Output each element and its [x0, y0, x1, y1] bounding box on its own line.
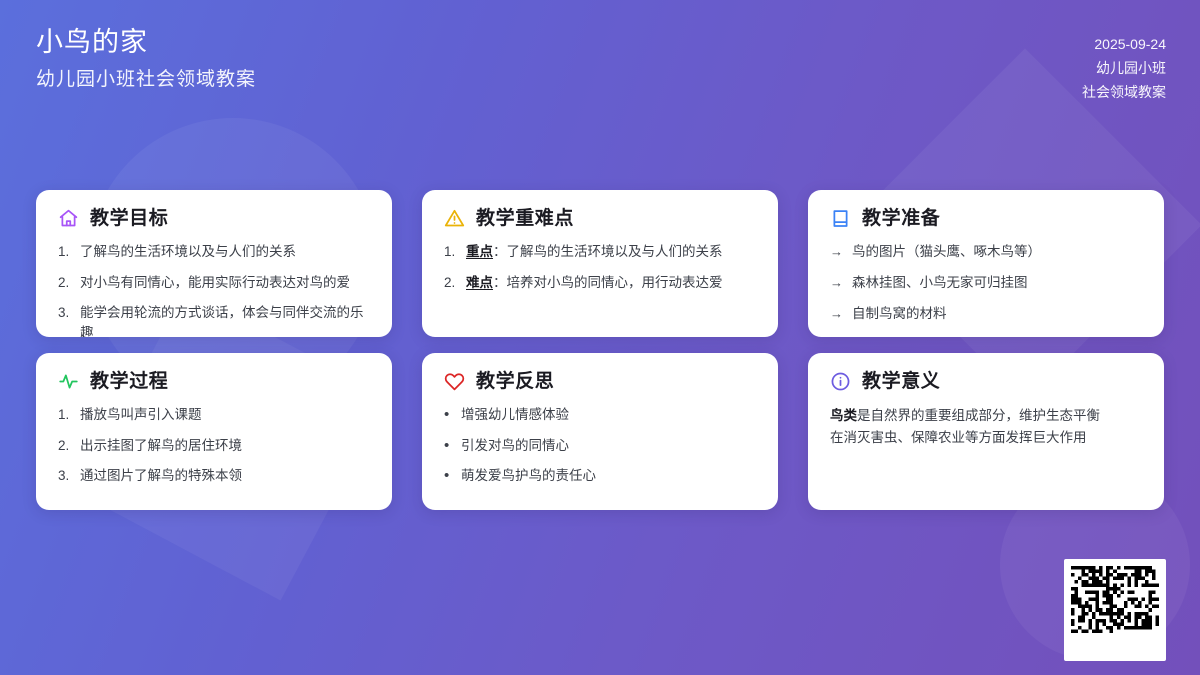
info-circle-icon — [830, 371, 851, 392]
card-reflection: 教学反思•增强幼儿情感体验•引发对鸟的同情心•萌发爱鸟护鸟的责任心 — [422, 353, 778, 510]
card-body: •增强幼儿情感体验•引发对鸟的同情心•萌发爱鸟护鸟的责任心 — [444, 405, 756, 486]
card-header: 教学目标 — [58, 208, 370, 229]
card-title: 教学意义 — [862, 372, 940, 391]
paragraph-line: 鸟类是自然界的重要组成部分，维护生态平衡 — [830, 405, 1142, 427]
meta-domain: 社会领域教案 — [1082, 80, 1166, 104]
list-marker: 3. — [58, 303, 74, 323]
header-meta: 2025-09-24 幼儿园小班 社会领域教案 — [1082, 32, 1166, 104]
card-header: 教学意义 — [830, 371, 1142, 392]
list-item-text: 通过图片了解鸟的特殊本领 — [80, 466, 370, 486]
list-item: →森林挂图、小鸟无家可归挂图 — [830, 273, 1142, 293]
list-marker: → — [830, 243, 846, 262]
book-icon — [830, 208, 851, 229]
list-item-rest: ：了解鸟的生活环境以及与人们的关系 — [493, 244, 723, 259]
list-item-text: 自制鸟窝的材料 — [852, 304, 1142, 324]
activity-pulse-icon — [58, 371, 79, 392]
paragraph-emphasis: 鸟类 — [830, 408, 857, 423]
card-title: 教学过程 — [90, 372, 168, 391]
list-item: 1.播放鸟叫声引入课题 — [58, 405, 370, 425]
list-marker: • — [444, 467, 455, 485]
list-item-text: 能学会用轮流的方式谈话，体会与同伴交流的乐趣 — [80, 303, 370, 337]
card-title: 教学目标 — [90, 209, 168, 228]
card-key-points: 教学重难点1.重点：了解鸟的生活环境以及与人们的关系2.难点：培养对小鸟的同情心… — [422, 190, 778, 337]
card-grid: 教学目标1.了解鸟的生活环境以及与人们的关系2.对小鸟有同情心，能用实际行动表达… — [36, 190, 1166, 510]
page-subtitle: 幼儿园小班社会领域教案 — [36, 67, 256, 93]
warning-triangle-icon — [444, 208, 465, 229]
card-body: →鸟的图片（猫头鹰、啄木鸟等）→森林挂图、小鸟无家可归挂图→自制鸟窝的材料 — [830, 242, 1142, 324]
list-item: •萌发爱鸟护鸟的责任心 — [444, 466, 756, 486]
card-process: 教学过程1.播放鸟叫声引入课题2.出示挂图了解鸟的居住环境3.通过图片了解鸟的特… — [36, 353, 392, 510]
list-item: 2.难点：培养对小鸟的同情心，用行动表达爱 — [444, 273, 756, 293]
meta-date: 2025-09-24 — [1082, 32, 1166, 56]
list-item-text: 重点：了解鸟的生活环境以及与人们的关系 — [466, 242, 756, 262]
list-item: •增强幼儿情感体验 — [444, 405, 756, 425]
list-item: •引发对鸟的同情心 — [444, 436, 756, 456]
list-item-emphasis: 难点 — [466, 275, 493, 290]
list-item-text: 难点：培养对小鸟的同情心，用行动表达爱 — [466, 273, 756, 293]
list-marker: 2. — [444, 273, 460, 293]
paragraph-line-2: 在消灭害虫、保障农业等方面发挥巨大作用 — [830, 427, 1142, 449]
list-marker: → — [830, 305, 846, 324]
list-item-text: 对小鸟有同情心，能用实际行动表达对鸟的爱 — [80, 273, 370, 293]
card-header: 教学准备 — [830, 208, 1142, 229]
meta-grade: 幼儿园小班 — [1082, 56, 1166, 80]
list-item-text: 出示挂图了解鸟的居住环境 — [80, 436, 370, 456]
list-marker: 2. — [58, 436, 74, 456]
list-marker: 1. — [58, 242, 74, 262]
card-title: 教学重难点 — [476, 209, 574, 228]
list-item: 3.能学会用轮流的方式谈话，体会与同伴交流的乐趣 — [58, 303, 370, 337]
page-header: 小鸟的家 幼儿园小班社会领域教案 2025-09-24 幼儿园小班 社会领域教案 — [0, 0, 1200, 130]
list-item-text: 萌发爱鸟护鸟的责任心 — [461, 466, 756, 486]
list-item-rest: ：培养对小鸟的同情心，用行动表达爱 — [493, 275, 723, 290]
list-item-text: 引发对鸟的同情心 — [461, 436, 756, 456]
list-marker: • — [444, 406, 455, 424]
list-item-text: 增强幼儿情感体验 — [461, 405, 756, 425]
page-title: 小鸟的家 — [36, 24, 256, 60]
list-item: 1.重点：了解鸟的生活环境以及与人们的关系 — [444, 242, 756, 262]
list-marker: → — [830, 274, 846, 293]
list-marker: • — [444, 437, 455, 455]
card-title: 教学反思 — [476, 372, 554, 391]
list-marker: 1. — [58, 405, 74, 425]
home-icon — [58, 208, 79, 229]
list-item-text: 播放鸟叫声引入课题 — [80, 405, 370, 425]
list-item: 2.对小鸟有同情心，能用实际行动表达对鸟的爱 — [58, 273, 370, 293]
list-item-emphasis: 重点 — [466, 244, 493, 259]
list-marker: 1. — [444, 242, 460, 262]
list-item-text: 了解鸟的生活环境以及与人们的关系 — [80, 242, 370, 262]
title-block: 小鸟的家 幼儿园小班社会领域教案 — [36, 24, 256, 93]
qr-code-image — [1071, 566, 1159, 654]
slide-canvas: 小鸟的家 幼儿园小班社会领域教案 2025-09-24 幼儿园小班 社会领域教案… — [0, 0, 1200, 675]
list-item: 3.通过图片了解鸟的特殊本领 — [58, 466, 370, 486]
list-item: →鸟的图片（猫头鹰、啄木鸟等） — [830, 242, 1142, 262]
card-header: 教学过程 — [58, 371, 370, 392]
qr-code-block[interactable] — [1064, 559, 1166, 661]
card-header: 教学反思 — [444, 371, 756, 392]
card-body: 1.了解鸟的生活环境以及与人们的关系2.对小鸟有同情心，能用实际行动表达对鸟的爱… — [58, 242, 370, 337]
heart-icon — [444, 371, 465, 392]
card-objectives: 教学目标1.了解鸟的生活环境以及与人们的关系2.对小鸟有同情心，能用实际行动表达… — [36, 190, 392, 337]
card-preparation: 教学准备→鸟的图片（猫头鹰、啄木鸟等）→森林挂图、小鸟无家可归挂图→自制鸟窝的材… — [808, 190, 1164, 337]
list-item: →自制鸟窝的材料 — [830, 304, 1142, 324]
list-item-text: 鸟的图片（猫头鹰、啄木鸟等） — [852, 242, 1142, 262]
card-body: 1.播放鸟叫声引入课题2.出示挂图了解鸟的居住环境3.通过图片了解鸟的特殊本领 — [58, 405, 370, 486]
card-title: 教学准备 — [862, 209, 940, 228]
card-header: 教学重难点 — [444, 208, 756, 229]
list-item: 1.了解鸟的生活环境以及与人们的关系 — [58, 242, 370, 262]
list-item: 2.出示挂图了解鸟的居住环境 — [58, 436, 370, 456]
card-significance: 教学意义鸟类是自然界的重要组成部分，维护生态平衡在消灭害虫、保障农业等方面发挥巨… — [808, 353, 1164, 510]
list-marker: 3. — [58, 466, 74, 486]
paragraph-text: 是自然界的重要组成部分，维护生态平衡 — [857, 408, 1100, 423]
card-body: 1.重点：了解鸟的生活环境以及与人们的关系2.难点：培养对小鸟的同情心，用行动表… — [444, 242, 756, 292]
list-item-text: 森林挂图、小鸟无家可归挂图 — [852, 273, 1142, 293]
list-marker: 2. — [58, 273, 74, 293]
card-body: 鸟类是自然界的重要组成部分，维护生态平衡在消灭害虫、保障农业等方面发挥巨大作用 — [830, 405, 1142, 449]
